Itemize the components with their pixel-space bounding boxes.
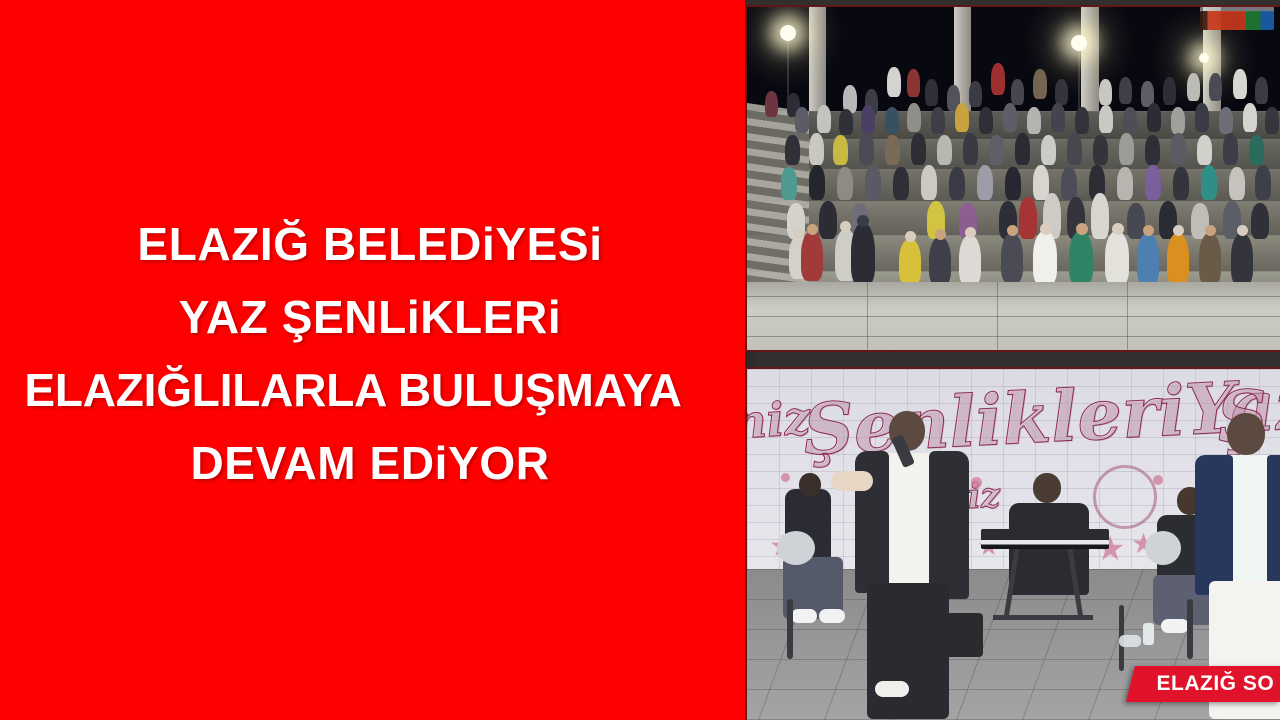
crowd-head [1076,223,1088,235]
streetlamp-icon [1071,35,1087,51]
crowd-person [1067,133,1082,165]
crowd-person [907,103,921,132]
crowd-person [851,223,875,285]
crowd-person [1145,135,1160,165]
musician-shoe [819,609,845,623]
crowd-person [1167,233,1189,285]
crowd-person [1231,233,1253,285]
arch-opening [747,7,809,111]
crowd-person [1041,135,1056,165]
crowd-person [1199,233,1221,285]
crowd-person [1119,77,1132,104]
decorative-dot [781,473,790,482]
crowd-head [793,227,804,238]
crowd-person [1163,77,1176,105]
crowd-person [1209,73,1222,101]
plaza-seam [747,336,1280,337]
singer2-jacket-right [1267,455,1280,595]
singer-shoe [875,681,909,697]
headline-block: ELAZIĞ BELEDiYESi YAZ ŞENLiKLERi ELAZIĞL… [0,208,740,500]
crowd-person [1195,103,1209,132]
crowd-head [1173,225,1184,236]
crowd-person [1137,233,1159,285]
decorative-dot [971,477,982,488]
crowd-person [1003,103,1017,132]
decorative-dot [1153,475,1163,485]
crowd-person [931,107,945,134]
crowd-person [911,133,926,165]
crowd-person [765,91,778,117]
crowd-person [1091,193,1109,239]
musician-head [799,473,821,497]
streetlamp-icon [780,25,796,41]
crowd-person [865,165,881,200]
crowd-person [1005,167,1021,200]
crowd-person [1093,135,1108,165]
crowd-person [1123,107,1137,134]
crowd-person [969,81,982,107]
crowd-person [885,135,900,165]
singer2-head [1227,413,1265,455]
crowd-person [1251,203,1269,239]
streetlamp-icon [1199,53,1209,63]
crowd-person [809,133,824,165]
tv-channel-logo [1200,11,1274,30]
crowd-person [1055,79,1068,105]
crowd-person [1001,233,1023,283]
crowd-person [1105,231,1129,285]
singer-hand [831,471,873,491]
crowd-person [1255,77,1268,104]
stage-monitor-speaker [923,613,983,657]
crowd-head [905,231,916,242]
crowd-person [949,167,965,200]
pillar [809,7,826,113]
plaza-seam [997,282,998,350]
crowd-person [785,135,800,165]
crowd-person [907,69,920,97]
crowd-person [1197,135,1212,165]
crowd-person [1229,167,1245,200]
tambourine-icon [777,531,815,565]
crowd-person [809,165,825,200]
crowd-person [1027,107,1041,134]
crowd-person [1147,103,1161,132]
crowd-person [1249,135,1264,165]
headline-line-2: YAZ ŞENLiKLERi [0,281,740,354]
stage-performance-photo: niz ŞenlikleriYaz Ş niz [747,369,1280,720]
crowd-head [840,221,851,232]
crowd-person [837,167,853,200]
crowd-person [1069,231,1093,285]
crowd-person [1033,69,1047,99]
keyboard-stand-base [993,615,1093,620]
crowd-person [989,135,1004,165]
crowd-person [979,107,993,134]
crowd-head [1040,223,1052,235]
crowd-head [1112,223,1124,235]
crowd-head [965,227,976,238]
crowd-person [1265,107,1279,134]
amphitheatre-crowd-photo [747,7,1280,350]
crowd-person [991,63,1005,95]
crowd-person [1173,167,1189,200]
crowd-person [899,239,921,285]
crowd-person [1099,79,1112,105]
crowd-person [1119,133,1134,165]
municipality-seal [1093,465,1157,529]
crowd-person [1171,133,1186,165]
crowd-person [819,201,837,239]
cable-coil [1119,635,1141,647]
crowd-person [861,105,875,133]
crowd-person [885,107,899,134]
crowd-person [801,231,823,281]
crowd-person [1117,167,1133,200]
crowd-person [921,165,937,200]
crowd-person [1127,203,1145,239]
crowd-person [959,235,981,285]
crowd-head [1237,225,1248,236]
crowd-person [1011,79,1024,105]
plaza-seam [867,282,868,350]
crowd-person [1255,165,1271,200]
singer-jacket-right [929,451,969,599]
crowd-person [925,79,938,106]
crowd-person [977,165,993,200]
channel-watermark-label: ELAZIĞ SO [1157,672,1275,696]
crowd-head [1143,225,1154,236]
crowd-person [929,237,951,285]
crowd-person [1233,69,1247,99]
plaza-floor [747,282,1280,350]
crowd-person [893,167,909,200]
crowd-person [1219,107,1233,134]
crowd-person [1187,73,1200,101]
crowd-head [935,229,946,240]
crowd-person [963,133,978,165]
crowd-person [1145,165,1161,200]
stage-scene: niz ŞenlikleriYaz Ş niz [747,369,1280,720]
crowd-person [1015,133,1030,165]
crowd-person [1223,133,1238,165]
crowd-person [955,103,969,132]
crowd-head [1007,225,1018,236]
crowd-person [833,135,848,165]
keyboardist-head [1033,473,1061,503]
crowd-head [1205,225,1216,236]
musician2-shoe [1161,619,1189,633]
tambourine-icon [1145,531,1181,565]
amphitheatre-scene [747,7,1280,350]
crowd-person [795,107,809,133]
mic-stand [1187,599,1193,659]
crowd-person [1061,167,1077,200]
crowd-person [859,133,874,165]
singer2-jacket-left [1195,455,1233,595]
headline-line-1: ELAZIĞ BELEDiYESi [0,208,740,281]
plaza-seam [747,296,1280,297]
crowd-person [839,109,853,135]
crowd-person [1051,103,1065,132]
headline-line-4: DEVAM EDiYOR [0,427,740,500]
news-banner-graphic: ELAZIĞ BELEDiYESi YAZ ŞENLiKLERi ELAZIĞL… [0,0,1280,720]
crowd-person [1201,165,1217,200]
pillar [1081,7,1099,113]
crowd-person [1099,105,1113,133]
crowd-person [887,67,901,97]
plaza-seam [1127,282,1128,350]
crowd-person [817,105,831,133]
crowd-person [937,135,952,165]
musician-shoe [791,609,817,623]
crowd-head [857,215,869,227]
mic-stand [787,599,793,659]
water-bottle [1143,623,1154,645]
keyboard-instrument [981,529,1109,549]
crowd-person [1019,197,1037,239]
crowd-head [807,224,818,235]
crowd-person [781,167,797,200]
channel-watermark: ELAZIĞ SO [1126,666,1280,702]
crowd-person [1075,107,1089,134]
crowd-person [1033,231,1057,285]
headline-line-3: ELAZIĞLILARLA BULUŞMAYA [0,354,740,427]
plaza-seam [747,316,1280,317]
crowd-person [1243,103,1257,132]
crowd-person [1171,107,1185,134]
